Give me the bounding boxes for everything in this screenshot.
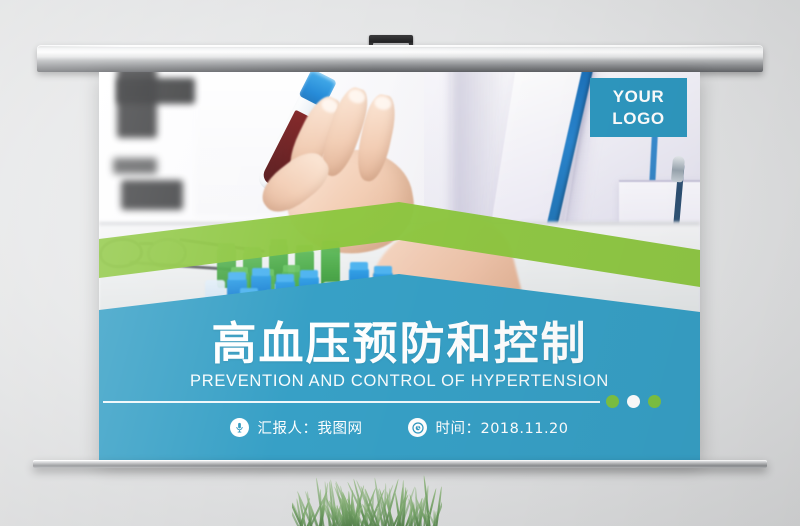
page-subtitle: PREVENTION AND CONTROL OF HYPERTENSION [190, 371, 609, 391]
projector-screen-weight-bar [33, 460, 767, 468]
dot-white-center [627, 395, 640, 408]
presenter-label: 汇报人：我图网 [257, 417, 362, 438]
potted-grass-plant [292, 474, 442, 526]
logo-placeholder[interactable]: YOUR LOGO [590, 78, 687, 137]
presenter-meta: 汇报人：我图网 [230, 417, 362, 438]
page-title: 高血压预防和控制 [211, 318, 587, 370]
presentation-slide[interactable]: 高血压预防和控制 PREVENTION AND CONTROL OF HYPER… [99, 72, 700, 460]
clock-icon [408, 418, 427, 437]
divider-row [99, 393, 700, 411]
date-label: 时间：2018.11.20 [435, 417, 568, 438]
dot-green-left [606, 395, 619, 408]
divider-line [103, 401, 600, 403]
dot-green-right [648, 395, 661, 408]
date-meta: 时间：2018.11.20 [408, 417, 568, 438]
logo-line-2: LOGO [612, 108, 664, 130]
room-wall: 高血压预防和控制 PREVENTION AND CONTROL OF HYPER… [0, 0, 800, 526]
projector-screen-casing [37, 45, 763, 72]
meta-row: 汇报人：我图网 时间：2018.11.20 [99, 417, 700, 438]
logo-line-1: YOUR [613, 86, 665, 108]
microphone-icon [230, 418, 249, 437]
